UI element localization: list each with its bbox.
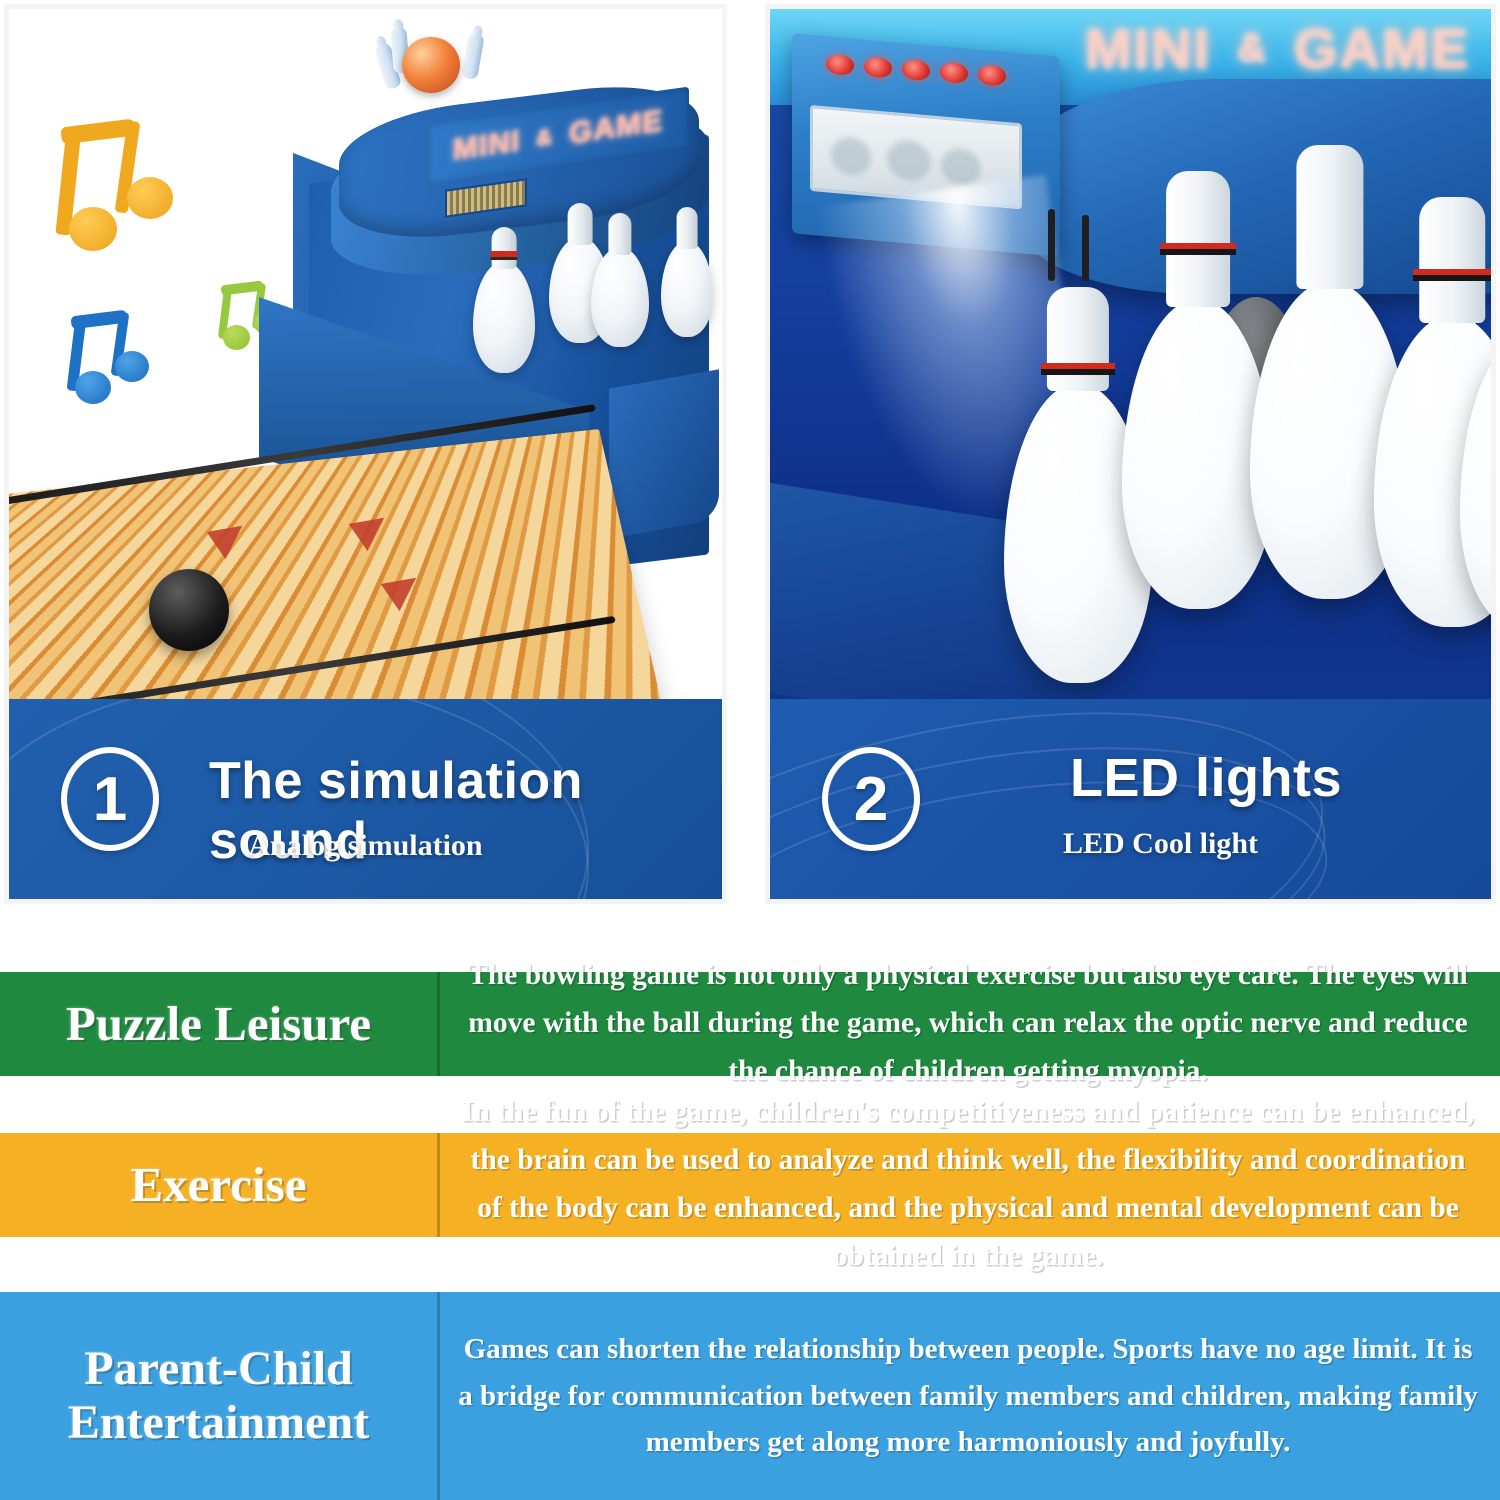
pin-mount-prong-2 [1082,215,1089,281]
pin-neck [568,203,593,245]
benefit-name-exercise: Exercise [0,1133,437,1237]
panel-2-title: LED lights [1070,747,1342,809]
benefit-description-puzzle-leisure: The bowling game is not only a physical … [437,972,1500,1076]
benefit-description-exercise: In the fun of the game, children's compe… [437,1133,1500,1237]
pin-neck [608,213,631,255]
pin-stripe [490,251,517,260]
marquee-word-1: MINI [453,124,520,167]
marquee-word-3-large: GAME [1294,16,1470,81]
photo-panel-row: MINI & GAME [0,0,1500,912]
pin-neck [1166,171,1230,307]
feature-panel-1: MINI & GAME [4,4,727,904]
bowling-lane-assembly [9,429,629,719]
panel-2-subtitle: LED Cool light [830,827,1491,861]
infographic-page: MINI & GAME [0,0,1500,1500]
led-indicator-red-5 [978,64,1006,86]
benefit-name-puzzle-leisure: Puzzle Leisure [0,972,437,1076]
marquee-word-3: GAME [569,104,663,151]
led-indicator-red-3 [902,59,930,81]
benefit-name-parent-child: Parent-Child Entertainment [0,1292,437,1500]
panel-2-caption: 2 LED lights LED Cool light [770,699,1491,899]
music-note-orange-icon [43,121,183,266]
led-indicator-red-2 [864,56,892,78]
lane-arrow-2 [349,518,386,555]
led-indicator-row [826,54,1006,87]
music-note-blue-icon [55,309,163,417]
benefit-description-parent-child: Games can shorten the relationship betwe… [437,1292,1500,1500]
led-indicator-red-4 [940,62,968,84]
lane-arrow-1 [207,526,244,563]
pin-neck [677,207,698,249]
marquee-word-1-large: MINI [1085,16,1211,81]
benefit-row-parent-child: Parent-Child Entertainment Games can sho… [0,1292,1500,1500]
led-indicator-red-1 [826,54,854,76]
pin-neck [1047,287,1109,391]
panel-1-subtitle: Analog simulation [9,829,722,863]
pin-red-band [1041,363,1115,375]
pin-red-band [1160,243,1236,255]
benefit-row-exercise: Exercise In the fun of the game, childre… [0,1133,1500,1237]
pin-neck [1419,197,1485,323]
feature-panel-2: MINI & GAME [765,4,1496,904]
pin-mount-prong-1 [1048,209,1055,281]
pin-neck [492,227,517,269]
marquee-word-2-large: & [1237,26,1268,71]
benefit-row-puzzle-leisure: Puzzle Leisure The bowling game is not o… [0,972,1500,1076]
lane-arrow-3 [381,578,418,615]
orange-bowling-ball-decor [402,37,460,93]
pin-red-band [1413,269,1491,281]
marquee-word-2: & [536,124,553,152]
black-bowling-ball [149,569,229,651]
panel-1-caption: 1 The simulation sound Analog simulation [9,699,722,899]
pin-neck [1296,145,1363,289]
